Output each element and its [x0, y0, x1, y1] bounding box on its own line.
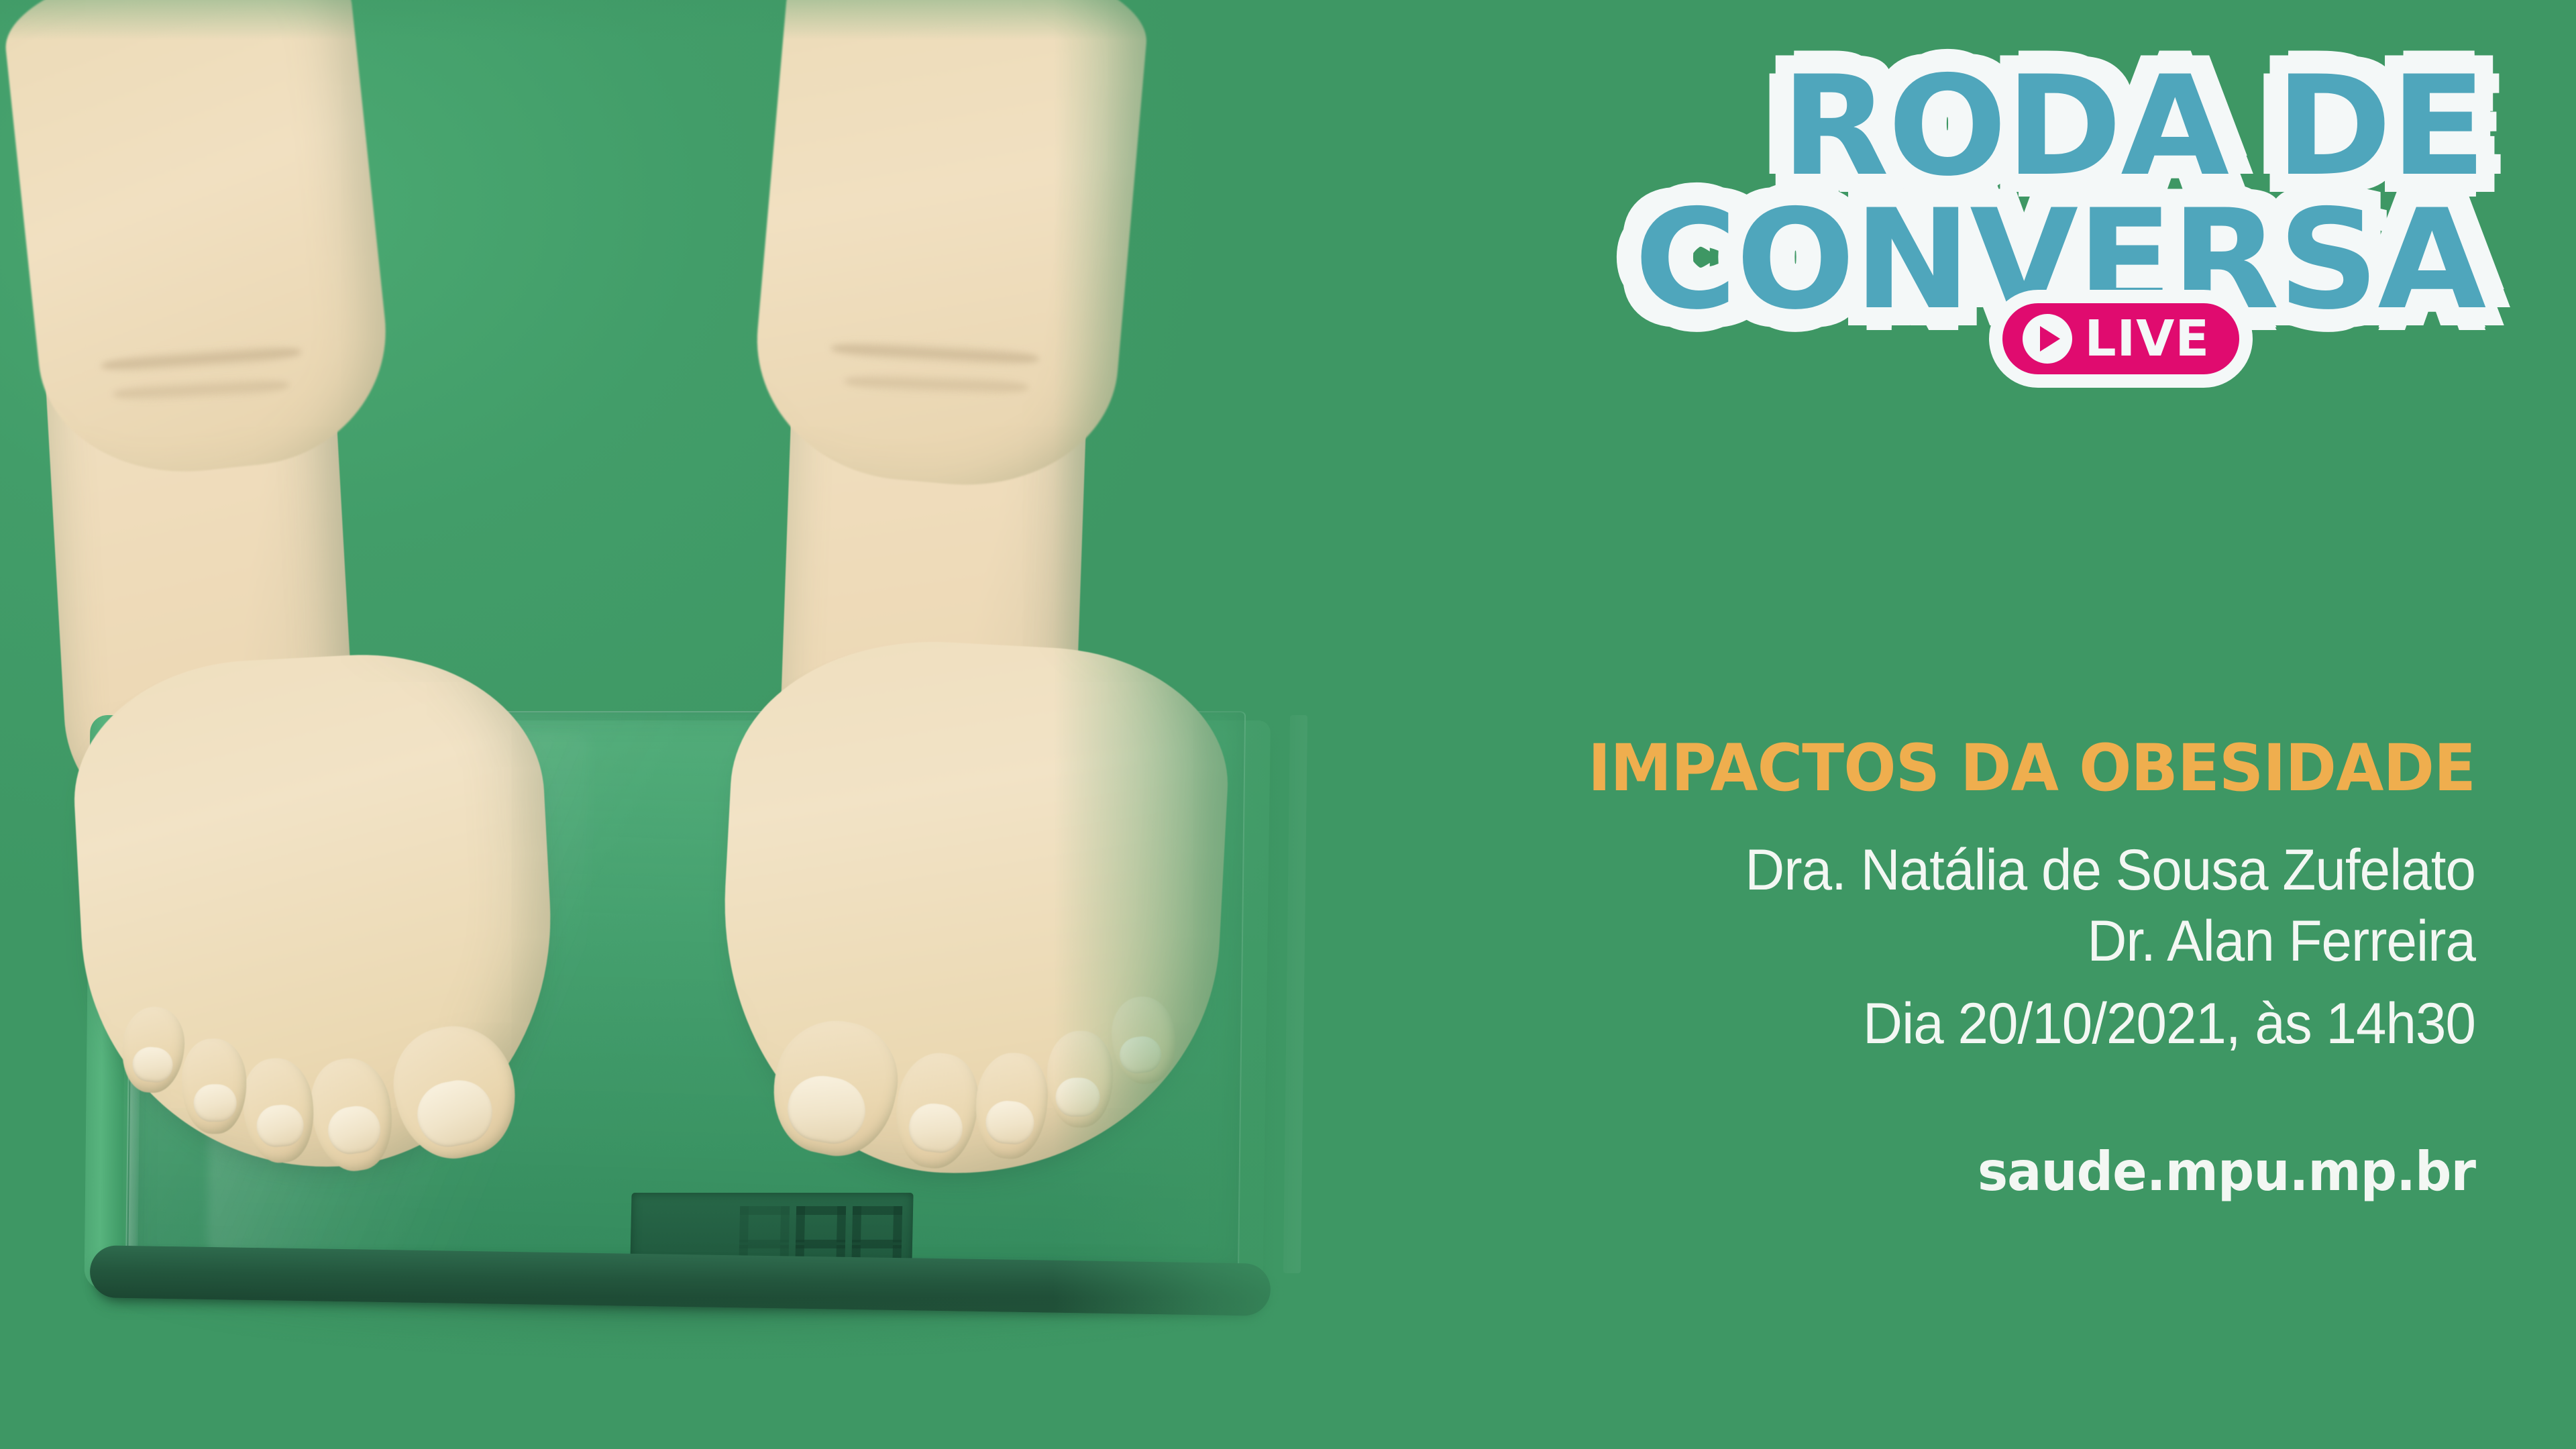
event-logo: RODA DE CONVERSA — [1523, 64, 2475, 323]
event-info: IMPACTOS DA OBESIDADE Dra. Natália de So… — [1523, 735, 2475, 1203]
logo-line-roda-de: RODA DE — [1513, 64, 2485, 191]
speaker-name: Dr. Alan Ferreira — [1570, 906, 2475, 977]
event-datetime: Dia 20/10/2021, às 14h30 — [1570, 988, 2475, 1060]
speaker-name: Dra. Natália de Sousa Zufelato — [1570, 835, 2475, 906]
toenail — [194, 1084, 237, 1122]
talk-title: IMPACTOS DA OBESIDADE — [1561, 735, 2475, 802]
photo-right-fade — [1053, 0, 1395, 1449]
live-label: LIVE — [2084, 314, 2210, 364]
play-icon — [2023, 314, 2072, 364]
live-badge[interactable]: LIVE — [2002, 303, 2239, 374]
website-url[interactable]: saude.mpu.mp.br — [1570, 1140, 2475, 1203]
left-calf — [0, 0, 398, 486]
content-pane: RODA DE CONVERSA LIVE IMPACTOS DA OBESID… — [1395, 0, 2576, 1449]
logo-line-conversa: CONVERSA — [1513, 197, 2485, 324]
scale-photo — [0, 0, 1395, 1449]
banner-root: RODA DE CONVERSA LIVE IMPACTOS DA OBESID… — [0, 0, 2576, 1449]
